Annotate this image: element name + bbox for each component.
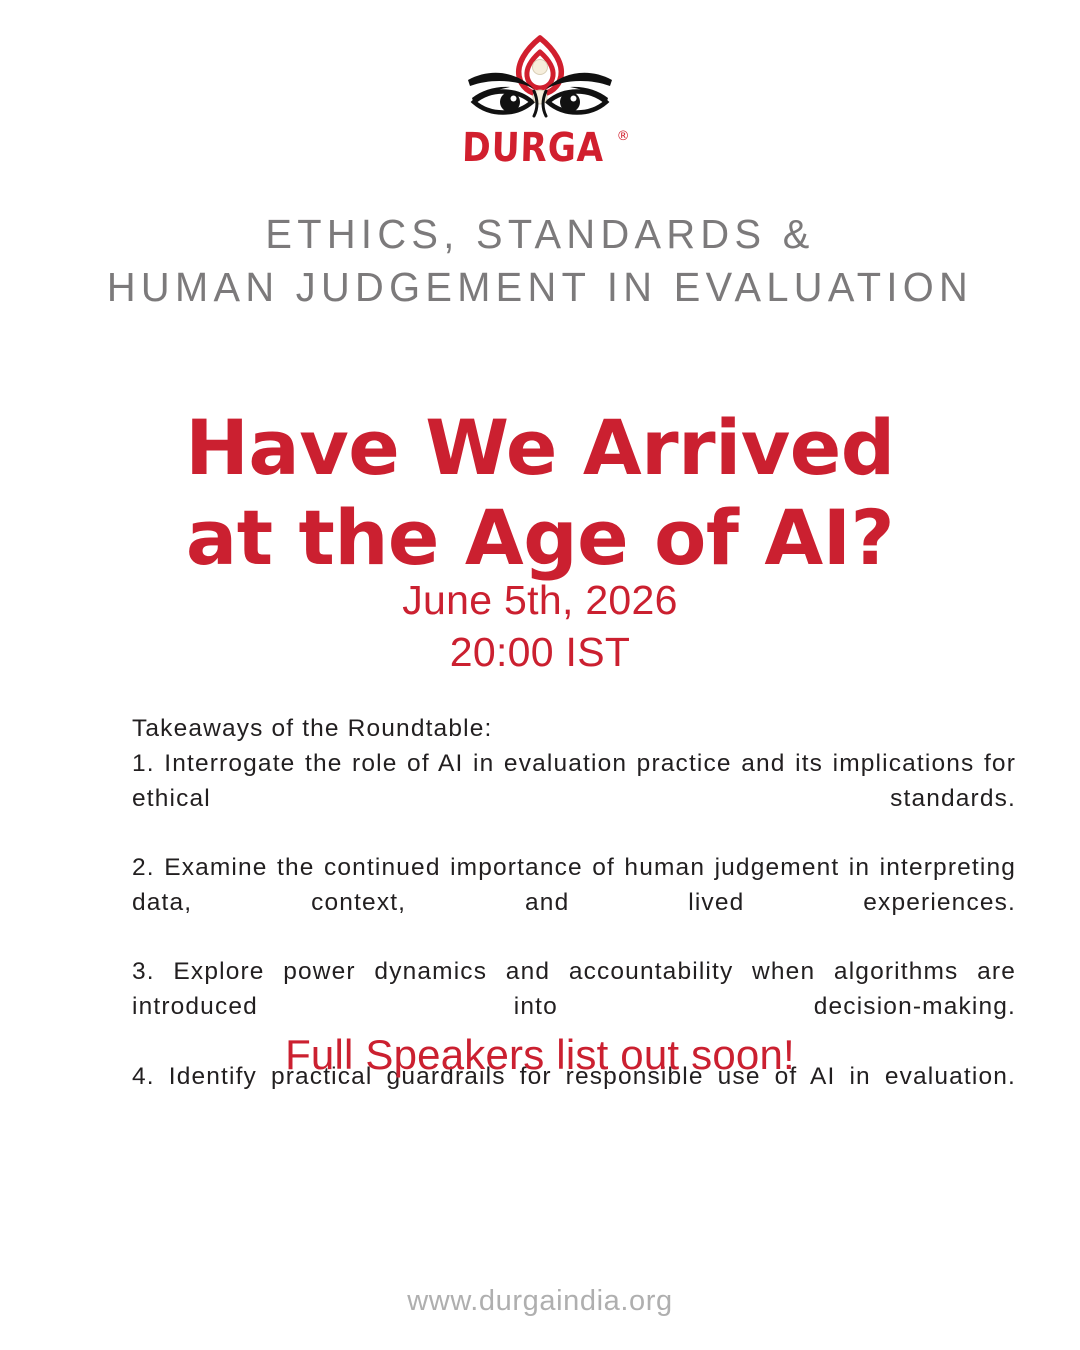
page-title: Have We Arrived at the Age of AI? <box>40 403 1040 582</box>
brand-logo: DURGA ® <box>0 34 1080 168</box>
takeaway-item-2: 2. Examine the continued importance of h… <box>132 851 1016 955</box>
speakers-announcement: Full Speakers list out soon! <box>40 1030 1040 1080</box>
takeaway-item-1: 1. Interrogate the role of AI in evaluat… <box>132 747 1016 851</box>
page-title-line-1: Have We Arrived <box>40 403 1040 493</box>
event-datetime: June 5th, 2026 20:00 IST <box>40 575 1040 678</box>
durga-goddess-eyes-logo-icon <box>460 34 620 130</box>
website-url: www.durgaindia.org <box>40 1285 1040 1318</box>
page-title-line-2: at the Age of AI? <box>40 493 1040 583</box>
event-subtitle-line-2: HUMAN JUDGEMENT IN EVALUATION <box>74 261 1005 314</box>
brand-wordmark-text: DURGA <box>462 128 605 168</box>
event-subtitle: ETHICS, STANDARDS & HUMAN JUDGEMENT IN E… <box>74 208 1005 315</box>
brand-wordmark: DURGA ® <box>450 128 629 168</box>
event-announcement-poster: DURGA ® ETHICS, STANDARDS & HUMAN JUDGEM… <box>0 0 1080 1350</box>
event-subtitle-line-1: ETHICS, STANDARDS & <box>74 208 1005 261</box>
takeaways-heading: Takeaways of the Roundtable: <box>132 712 1016 747</box>
event-time: 20:00 IST <box>40 627 1040 679</box>
event-date: June 5th, 2026 <box>40 575 1040 627</box>
registered-trademark-icon: ® <box>617 130 630 143</box>
